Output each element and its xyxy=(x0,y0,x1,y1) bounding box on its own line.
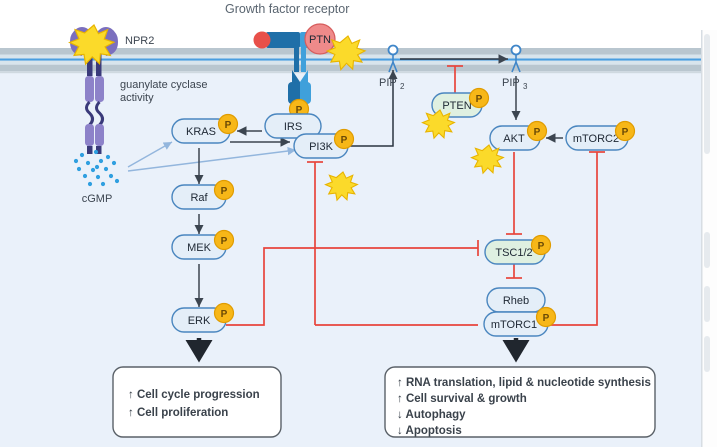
node-kras[interactable]: KRAS P xyxy=(172,115,238,144)
node-raf-label: Raf xyxy=(190,192,208,204)
guanylate-cyclase-label-line1: guanylate cyclase xyxy=(120,79,207,91)
svg-text:P: P xyxy=(538,241,545,252)
scroll-thumb-3[interactable] xyxy=(704,286,710,322)
growth-factor-receptor-title: Growth factor receptor xyxy=(225,2,349,16)
npr2-label: NPR2 xyxy=(125,35,154,47)
node-akt[interactable]: AKT P xyxy=(490,122,547,151)
node-mtorc1[interactable]: mTORC1 P xyxy=(484,308,556,337)
outcome-mapk-line-1: ↑ Cell cycle progression xyxy=(128,389,260,401)
outcome-box-mapk xyxy=(113,367,281,437)
scroll-thumb-1[interactable] xyxy=(704,34,710,154)
svg-text:P: P xyxy=(534,127,541,138)
node-akt-label: AKT xyxy=(503,133,525,145)
node-tsc12-label: TSC1/2 xyxy=(495,247,532,259)
svg-text:P: P xyxy=(622,127,629,138)
node-rheb-label: Rheb xyxy=(503,295,529,307)
svg-text:P: P xyxy=(221,309,228,320)
scroll-thumb-2[interactable] xyxy=(704,232,710,268)
pip2-label-text: PIP xyxy=(379,77,397,89)
svg-text:P: P xyxy=(341,135,348,146)
pathway-diagram: PTN P xyxy=(0,0,717,447)
guanylate-cyclase-label-line2: activity xyxy=(120,92,154,104)
node-rheb[interactable]: Rheb xyxy=(487,288,545,312)
scroll-thumb-4[interactable] xyxy=(704,336,710,372)
pathway-canvas: PTN P xyxy=(0,0,717,447)
node-mtorc2[interactable]: mTORC2 P xyxy=(566,122,635,151)
node-mtorc1-label: mTORC1 xyxy=(491,319,537,331)
node-erk-label: ERK xyxy=(188,315,211,327)
pip3-label-sub: 3 xyxy=(523,82,528,91)
node-pi3k[interactable]: PI3K P xyxy=(294,130,354,159)
pip2-label-sub: 2 xyxy=(400,82,405,91)
ptn-ligand-label: PTN xyxy=(309,34,331,46)
node-mtorc2-label: mTORC2 xyxy=(573,133,619,145)
svg-text:P: P xyxy=(543,313,550,324)
node-pi3k-label: PI3K xyxy=(309,141,334,153)
node-tsc12[interactable]: TSC1/2 P xyxy=(485,236,551,265)
node-irs-label: IRS xyxy=(284,121,302,133)
right-edge-border xyxy=(701,30,703,447)
node-mek-label: MEK xyxy=(187,242,212,254)
outcome-mtor-line-2: ↑ Cell survival & growth xyxy=(397,393,527,405)
pip3-label-text: PIP xyxy=(502,77,520,89)
outcome-mapk-line-2: ↑ Cell proliferation xyxy=(128,407,228,419)
node-kras-label: KRAS xyxy=(186,126,216,138)
svg-text:P: P xyxy=(221,186,228,197)
svg-text:P: P xyxy=(221,236,228,247)
svg-text:P: P xyxy=(225,120,232,131)
outcome-mtor-line-4: ↓ Apoptosis xyxy=(397,425,462,437)
svg-text:P: P xyxy=(476,94,483,105)
cgmp-label: cGMP xyxy=(82,193,113,205)
node-pten-label: PTEN xyxy=(442,100,471,112)
outcome-mtor-line-3: ↓ Autophagy xyxy=(397,409,466,421)
outcome-mtor-line-1: ↑ RNA translation, lipid & nucleotide sy… xyxy=(397,377,651,389)
